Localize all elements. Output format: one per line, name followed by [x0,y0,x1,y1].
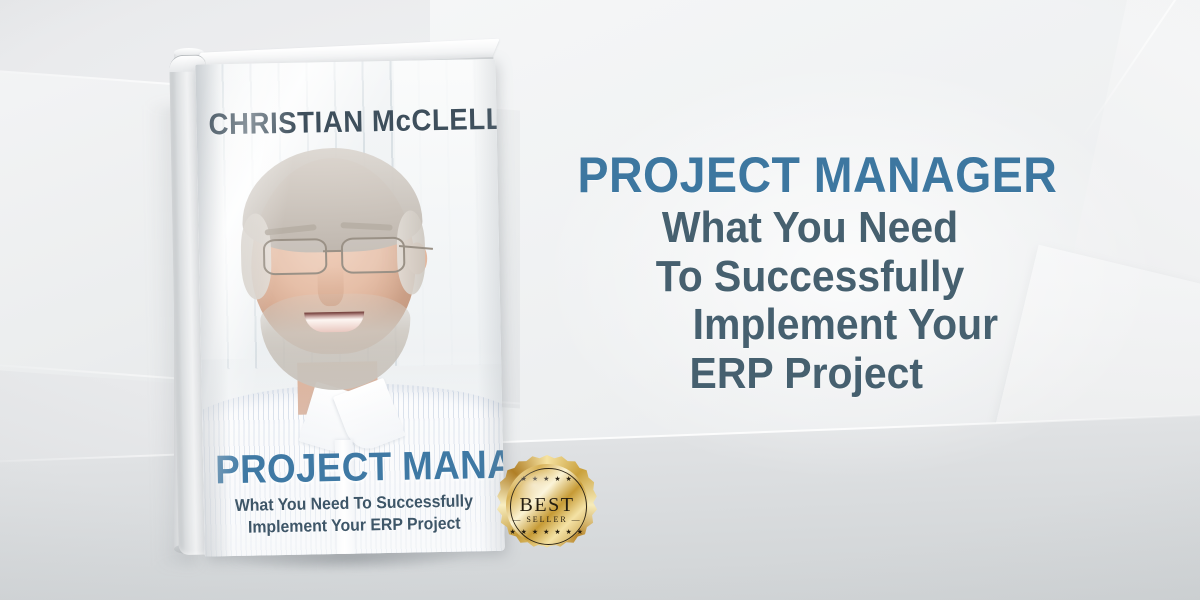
badge-primary-label: BEST [497,495,597,515]
badge-secondary-label: — SELLER — [497,515,597,524]
promo-headline: PROJECT MANAGER [578,150,1043,201]
book-mockup[interactable]: CHRISTIAN McCLELLAN PROJECT MANAGER What… [161,39,511,565]
promo-subline-4: ERP Project [578,351,1043,398]
cover-title: PROJECT MANAGER [215,443,492,493]
portrait-eyeglasses [259,237,412,274]
promo-subline-3: Implement Your [578,302,1043,349]
best-seller-badge[interactable]: ★ ★ ★ ★ ★ BEST — SELLER — ★ ★ ★ ★ ★ ★ ★ [497,455,597,555]
background-upper-right-panel [1045,0,1200,441]
background-lower-right-junction [1010,420,1200,479]
eyeglass-bridge [323,250,343,252]
book-front-cover: CHRISTIAN McCLELLAN PROJECT MANAGER What… [195,59,504,557]
badge-stars-top-icon: ★ ★ ★ ★ ★ [497,476,597,483]
promo-copy: PROJECT MANAGER What You Need To Success… [560,150,1060,398]
promo-subline-1: What You Need [578,205,1043,252]
promo-subline-2: To Successfully [578,254,1043,301]
badge-stars-bottom-icon: ★ ★ ★ ★ ★ ★ ★ [497,529,597,536]
cover-author-name: CHRISTIAN McCLELLAN [208,103,485,142]
background-upper-right-crease [1079,0,1192,142]
eyeglass-lens-right [341,237,406,274]
eyeglass-lens-left [263,238,328,275]
promo-banner: CHRISTIAN McCLELLAN PROJECT MANAGER What… [0,0,1200,600]
